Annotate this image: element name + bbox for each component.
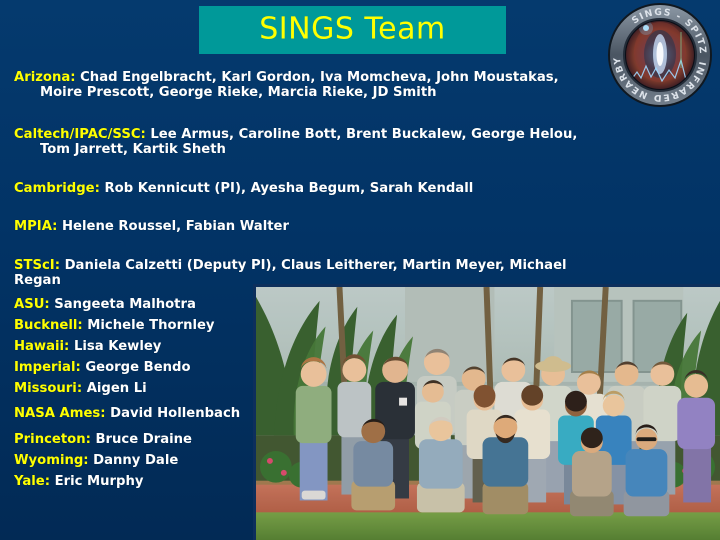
institution-label-princeton: Princeton: [14,432,91,447]
institution-label-stsci: STScI: [14,258,60,273]
institution-label-imperial: Imperial: [14,360,81,375]
member-names-princeton: Bruce Draine [95,432,192,447]
institution-label-missouri: Missouri: [14,381,82,396]
member-names-cambridge: Rob Kennicutt (PI), Ayesha Begum, Sarah … [104,181,473,196]
entry-nasa-ames: NASA Ames: David Hollenbach [14,406,264,421]
member-names-yale: Eric Murphy [55,474,144,489]
slide-canvas: SINGS Team [0,0,720,540]
member-names-arizona-cont: Moire Prescott, George Rieke, Marcia Rie… [40,85,614,100]
team-group-photo [253,284,720,540]
member-names-mpia: Helene Roussel, Fabian Walter [62,219,289,234]
entry-hawaii: Hawaii: Lisa Kewley [14,339,264,354]
entry-imperial: Imperial: George Bendo [14,360,264,375]
member-names-caltech-cont: Tom Jarrett, Kartik Sheth [40,142,614,157]
page-title: SINGS Team [199,14,506,44]
institution-label-nasa-ames: NASA Ames: [14,406,106,421]
entry-cambridge: Cambridge: Rob Kennicutt (PI), Ayesha Be… [14,181,614,196]
member-names-nasa-ames: David Hollenbach [110,406,240,421]
member-names-wyoming: Danny Dale [93,453,178,468]
member-names-arizona: Chad Engelbracht, Karl Gordon, Iva Momch… [80,70,559,85]
entry-yale: Yale: Eric Murphy [14,474,264,489]
institution-label-bucknell: Bucknell: [14,318,83,333]
member-names-bucknell: Michele Thornley [87,318,214,333]
entry-wyoming: Wyoming: Danny Dale [14,453,264,468]
institution-label-wyoming: Wyoming: [14,453,89,468]
entry-asu: ASU: Sangeeta Malhotra [14,297,264,312]
member-names-asu: Sangeeta Malhotra [54,297,196,312]
institution-label-cambridge: Cambridge: [14,181,100,196]
entry-caltech-ipac-ssc: Caltech/IPAC/SSC: Lee Armus, Caroline Bo… [14,127,614,157]
entry-princeton: Princeton: Bruce Draine [14,432,264,447]
entry-arizona: Arizona: Chad Engelbracht, Karl Gordon, … [14,70,614,100]
entry-missouri: Missouri: Aigen Li [14,381,264,396]
institution-label-caltech: Caltech/IPAC/SSC: [14,127,146,142]
entry-bucknell: Bucknell: Michele Thornley [14,318,264,333]
institution-label-asu: ASU: [14,297,50,312]
member-names-hawaii: Lisa Kewley [74,339,161,354]
institution-label-mpia: MPIA: [14,219,57,234]
institution-label-arizona: Arizona: [14,70,76,85]
member-names-missouri: Aigen Li [87,381,147,396]
member-names-imperial: George Bendo [85,360,190,375]
entry-mpia: MPIA: Helene Roussel, Fabian Walter [14,219,614,234]
institution-label-hawaii: Hawaii: [14,339,69,354]
institution-label-yale: Yale: [14,474,50,489]
member-names-caltech: Lee Armus, Caroline Bott, Brent Buckalew… [150,127,577,142]
sings-logo-icon: SINGS - SPITZER INFRARED NEARBY GALAXIES… [607,2,713,108]
slide-title-banner: SINGS Team [199,6,506,54]
